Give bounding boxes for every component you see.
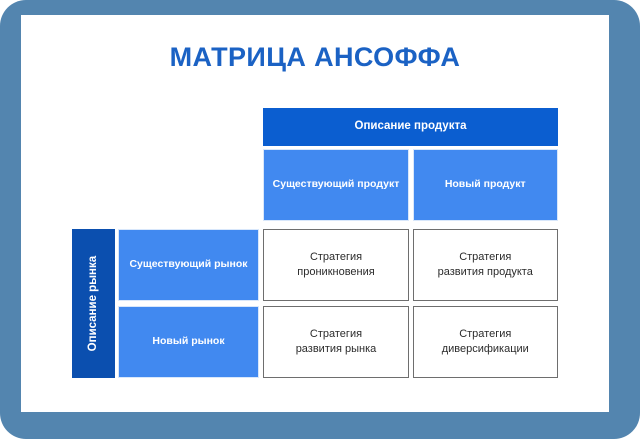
row-header-new-market: Новый рынок bbox=[118, 306, 259, 379]
strategy-cell-market-development-line1: Стратегия bbox=[296, 327, 377, 342]
row-header-existing-market: Существующий рынок bbox=[118, 229, 259, 301]
strategy-cell-product-development-line2: развития продукта bbox=[438, 265, 533, 280]
column-header-existing-product-label: Существующий продукт bbox=[273, 178, 400, 192]
product-axis-header: Описание продукта bbox=[263, 108, 558, 146]
strategy-cell-diversification-line1: Стратегия bbox=[442, 327, 529, 342]
strategy-cell-diversification: Стратегия диверсификации bbox=[413, 306, 559, 379]
column-header-new-product-label: Новый продукт bbox=[445, 178, 526, 192]
strategy-cell-diversification-line2: диверсификации bbox=[442, 342, 529, 357]
ansoff-matrix-diagram: Описание продукта Существующий продукт Н… bbox=[0, 0, 640, 439]
strategy-cell-market-development-line2: развития рынка bbox=[296, 342, 377, 357]
column-header-existing-product: Существующий продукт bbox=[263, 149, 409, 221]
strategy-cell-market-development: Стратегия развития рынка bbox=[263, 306, 409, 379]
market-axis-label: Описание рынка bbox=[86, 256, 101, 351]
strategy-cell-product-development-line1: Стратегия bbox=[438, 250, 533, 265]
strategy-cell-market-penetration-line2: проникновения bbox=[297, 265, 374, 280]
column-header-new-product: Новый продукт bbox=[413, 149, 559, 221]
strategy-cell-product-development: Стратегия развития продукта bbox=[413, 229, 559, 301]
strategy-cell-market-penetration: Стратегия проникновения bbox=[263, 229, 409, 301]
market-axis-header: Описание рынка bbox=[72, 229, 115, 378]
product-axis-label: Описание продукта bbox=[355, 119, 467, 134]
strategy-cell-market-penetration-line1: Стратегия bbox=[297, 250, 374, 265]
row-header-new-market-label: Новый рынок bbox=[152, 335, 224, 349]
row-header-existing-market-label: Существующий рынок bbox=[129, 258, 247, 272]
